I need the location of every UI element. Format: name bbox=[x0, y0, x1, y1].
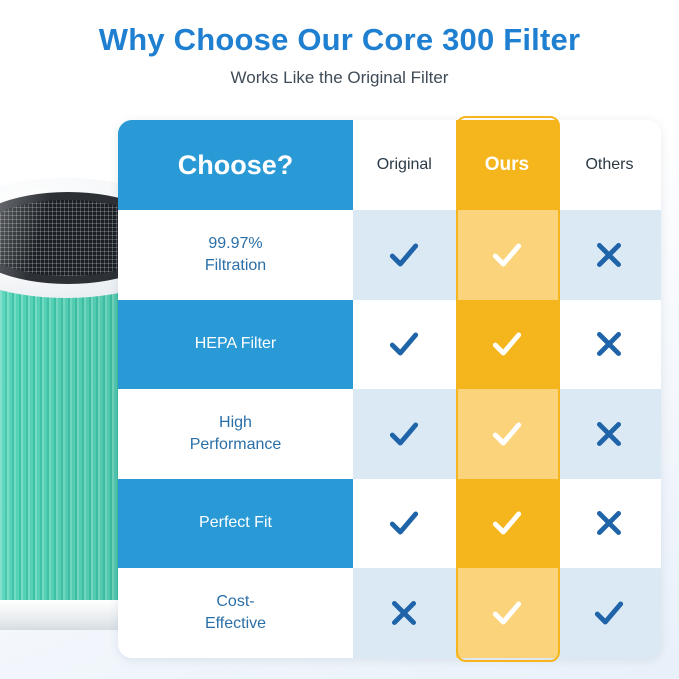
table-header-label: Ours bbox=[485, 154, 529, 176]
table-row: Cost-Effective bbox=[118, 568, 661, 658]
label-line: Filtration bbox=[205, 255, 266, 277]
table-row-label: Perfect Fit bbox=[118, 479, 353, 569]
page-title: Why Choose Our Core 300 Filter bbox=[0, 0, 679, 58]
table-row-label: HighPerformance bbox=[118, 389, 353, 479]
label-line: HEPA Filter bbox=[195, 333, 277, 355]
table-cell-original bbox=[353, 300, 456, 390]
table-cell-others bbox=[558, 479, 661, 569]
table-cell-original bbox=[353, 389, 456, 479]
check-icon bbox=[592, 596, 626, 630]
table-cell-original bbox=[353, 568, 456, 658]
table-row: HighPerformance bbox=[118, 389, 661, 479]
table-cell-others bbox=[558, 210, 661, 300]
check-icon bbox=[387, 327, 421, 361]
table-header-original: Original bbox=[353, 120, 456, 210]
check-icon bbox=[490, 506, 524, 540]
table-cell-ours bbox=[456, 210, 559, 300]
table-header-label: Original bbox=[377, 156, 432, 174]
cross-icon bbox=[592, 506, 626, 540]
label-line: Performance bbox=[190, 434, 282, 456]
check-icon bbox=[490, 327, 524, 361]
check-icon bbox=[387, 238, 421, 272]
check-icon bbox=[490, 238, 524, 272]
table-cell-others bbox=[558, 300, 661, 390]
table-row-label: HEPA Filter bbox=[118, 300, 353, 390]
table-row-label-text: HEPA Filter bbox=[187, 333, 285, 355]
page-subtitle: Works Like the Original Filter bbox=[0, 58, 679, 88]
label-line: Perfect Fit bbox=[199, 512, 272, 534]
comparison-table-body: Choose?OriginalOursOthers99.97%Filtratio… bbox=[118, 120, 661, 658]
table-cell-original bbox=[353, 479, 456, 569]
table-row: HEPA Filter bbox=[118, 300, 661, 390]
check-icon bbox=[490, 596, 524, 630]
table-header-label: Choose? bbox=[118, 120, 353, 210]
check-icon bbox=[490, 417, 524, 451]
table-row-label-text: HighPerformance bbox=[182, 412, 290, 455]
check-icon bbox=[387, 506, 421, 540]
table-row-label-text: 99.97%Filtration bbox=[197, 233, 274, 276]
header: Why Choose Our Core 300 Filter Works Lik… bbox=[0, 0, 679, 88]
table-row: 99.97%Filtration bbox=[118, 210, 661, 300]
table-header-label: Choose? bbox=[178, 150, 294, 181]
cross-icon bbox=[592, 238, 626, 272]
label-line: Cost- bbox=[205, 591, 266, 613]
table-row: Perfect Fit bbox=[118, 479, 661, 569]
table-cell-others bbox=[558, 389, 661, 479]
cross-icon bbox=[387, 596, 421, 630]
table-cell-ours bbox=[456, 300, 559, 390]
table-cell-ours bbox=[456, 479, 559, 569]
comparison-table: Choose?OriginalOursOthers99.97%Filtratio… bbox=[118, 120, 661, 658]
cross-icon bbox=[592, 417, 626, 451]
label-line: 99.97% bbox=[205, 233, 266, 255]
table-header-row: Choose?OriginalOursOthers bbox=[118, 120, 661, 210]
label-line: Effective bbox=[205, 613, 266, 635]
cross-icon bbox=[592, 327, 626, 361]
table-row-label-text: Perfect Fit bbox=[191, 512, 280, 534]
table-cell-others bbox=[558, 568, 661, 658]
table-row-label-text: Cost-Effective bbox=[197, 591, 274, 634]
table-cell-original bbox=[353, 210, 456, 300]
table-row-label: Cost-Effective bbox=[118, 568, 353, 658]
table-cell-ours bbox=[456, 568, 559, 658]
check-icon bbox=[387, 417, 421, 451]
table-header-ours: Ours bbox=[456, 120, 559, 210]
table-row-label: 99.97%Filtration bbox=[118, 210, 353, 300]
label-line: High bbox=[190, 412, 282, 434]
page-background: Why Choose Our Core 300 Filter Works Lik… bbox=[0, 0, 679, 679]
table-header-label: Others bbox=[585, 156, 633, 174]
table-header-others: Others bbox=[558, 120, 661, 210]
table-cell-ours bbox=[456, 389, 559, 479]
